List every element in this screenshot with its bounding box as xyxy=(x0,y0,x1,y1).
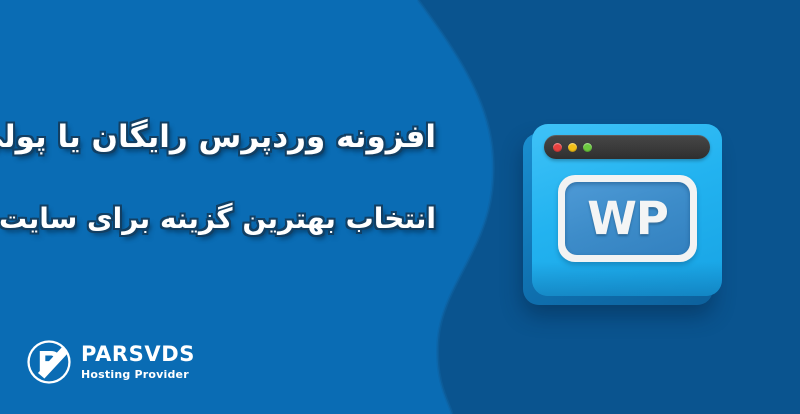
wordpress-badge-inner: WP xyxy=(565,182,690,255)
minimize-dot-icon xyxy=(568,143,577,152)
close-dot-icon xyxy=(553,143,562,152)
headline-line-2: انتخاب بهترین گزینه برای سایت شما xyxy=(0,201,436,236)
banner-root: افزونه وردپرس رایگان یا پولی؟ انتخاب بهت… xyxy=(0,0,800,414)
browser-face: WP xyxy=(532,124,722,296)
headline-block: افزونه وردپرس رایگان یا پولی؟ انتخاب بهت… xyxy=(0,118,436,236)
wordpress-badge: WP xyxy=(558,175,697,262)
wordpress-badge-label: WP xyxy=(587,196,668,241)
browser-titlebar xyxy=(544,135,710,159)
parsvds-circle-p-logo-icon xyxy=(26,339,72,385)
logo-subtitle: Hosting Provider xyxy=(81,369,195,380)
parsvds-logo: PARSVDS Hosting Provider xyxy=(26,339,195,385)
maximize-dot-icon xyxy=(583,143,592,152)
logo-text-block: PARSVDS Hosting Provider xyxy=(81,344,195,380)
headline-line-1: افزونه وردپرس رایگان یا پولی؟ xyxy=(0,118,436,157)
browser-window-illustration: WP xyxy=(532,124,722,296)
logo-title: PARSVDS xyxy=(81,344,195,365)
